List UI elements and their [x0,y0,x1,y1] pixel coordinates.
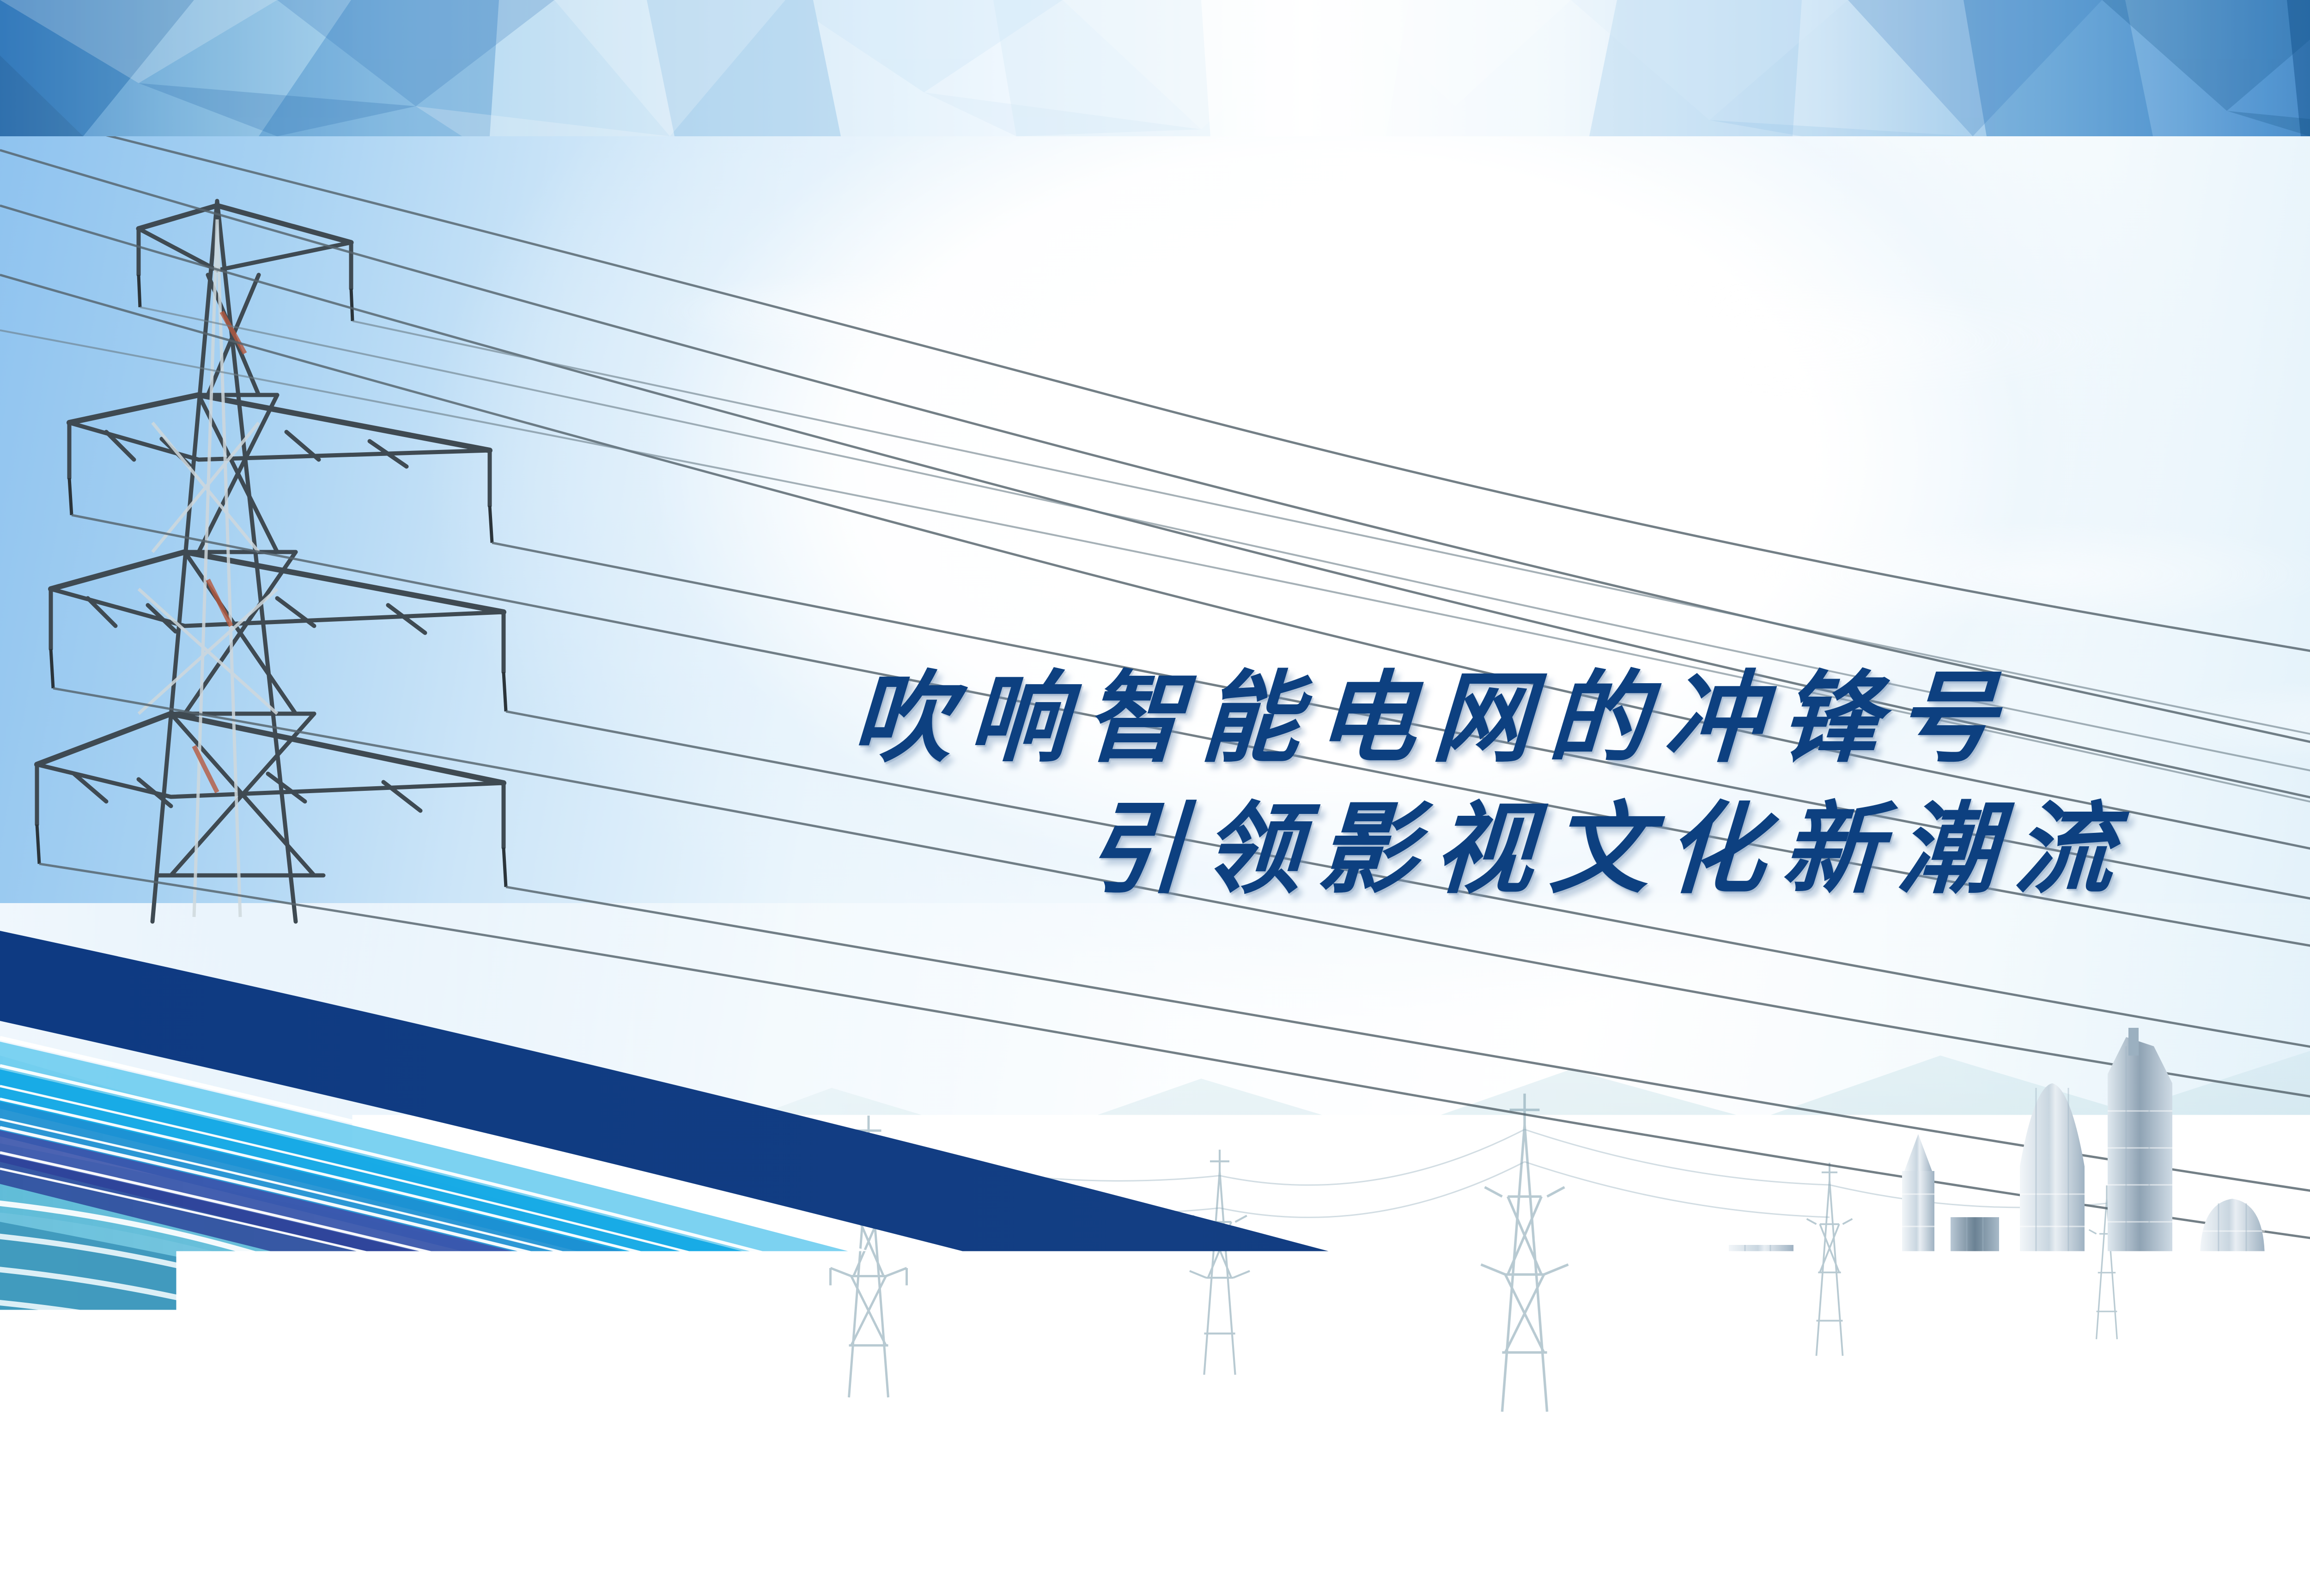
poster-canvas: 吹响智能电网的冲锋号 引领影视文化新潮流 [0,0,2310,1596]
wave-ribbons [0,903,2310,1596]
photo-montage: 吹响智能电网的冲锋号 引领影视文化新潮流 [0,136,2310,1596]
top-polygon-band [0,0,2310,136]
